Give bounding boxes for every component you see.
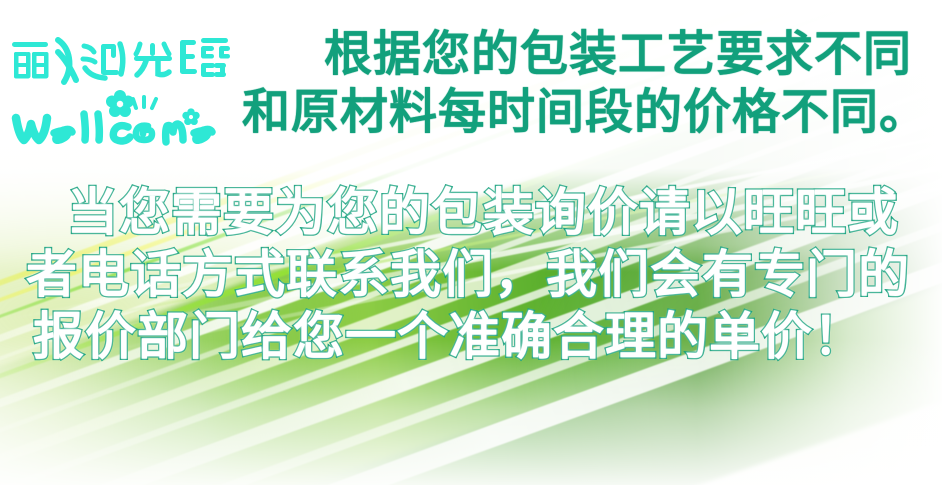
body-block: 当您需要为您的包装询价请以旺旺或 者电话方式联系我们，我们会有专门的 报价部门给…: [0, 182, 942, 368]
headline-line-2: 和原材料每时间段的价格不同。: [0, 84, 942, 142]
body-line-3: 报价部门给您一个准确合理的单价！: [0, 306, 942, 368]
body-line-2: 者电话方式联系我们，我们会有专门的: [0, 244, 942, 306]
promo-banner: 根据您的包装工艺要求不同 和原材料每时间段的价格不同。 当您需要为您的包装询价请…: [0, 0, 942, 485]
headline-line-1: 根据您的包装工艺要求不同: [0, 26, 942, 84]
headline-block: 根据您的包装工艺要求不同 和原材料每时间段的价格不同。: [0, 26, 942, 142]
body-line-1: 当您需要为您的包装询价请以旺旺或: [0, 182, 942, 244]
